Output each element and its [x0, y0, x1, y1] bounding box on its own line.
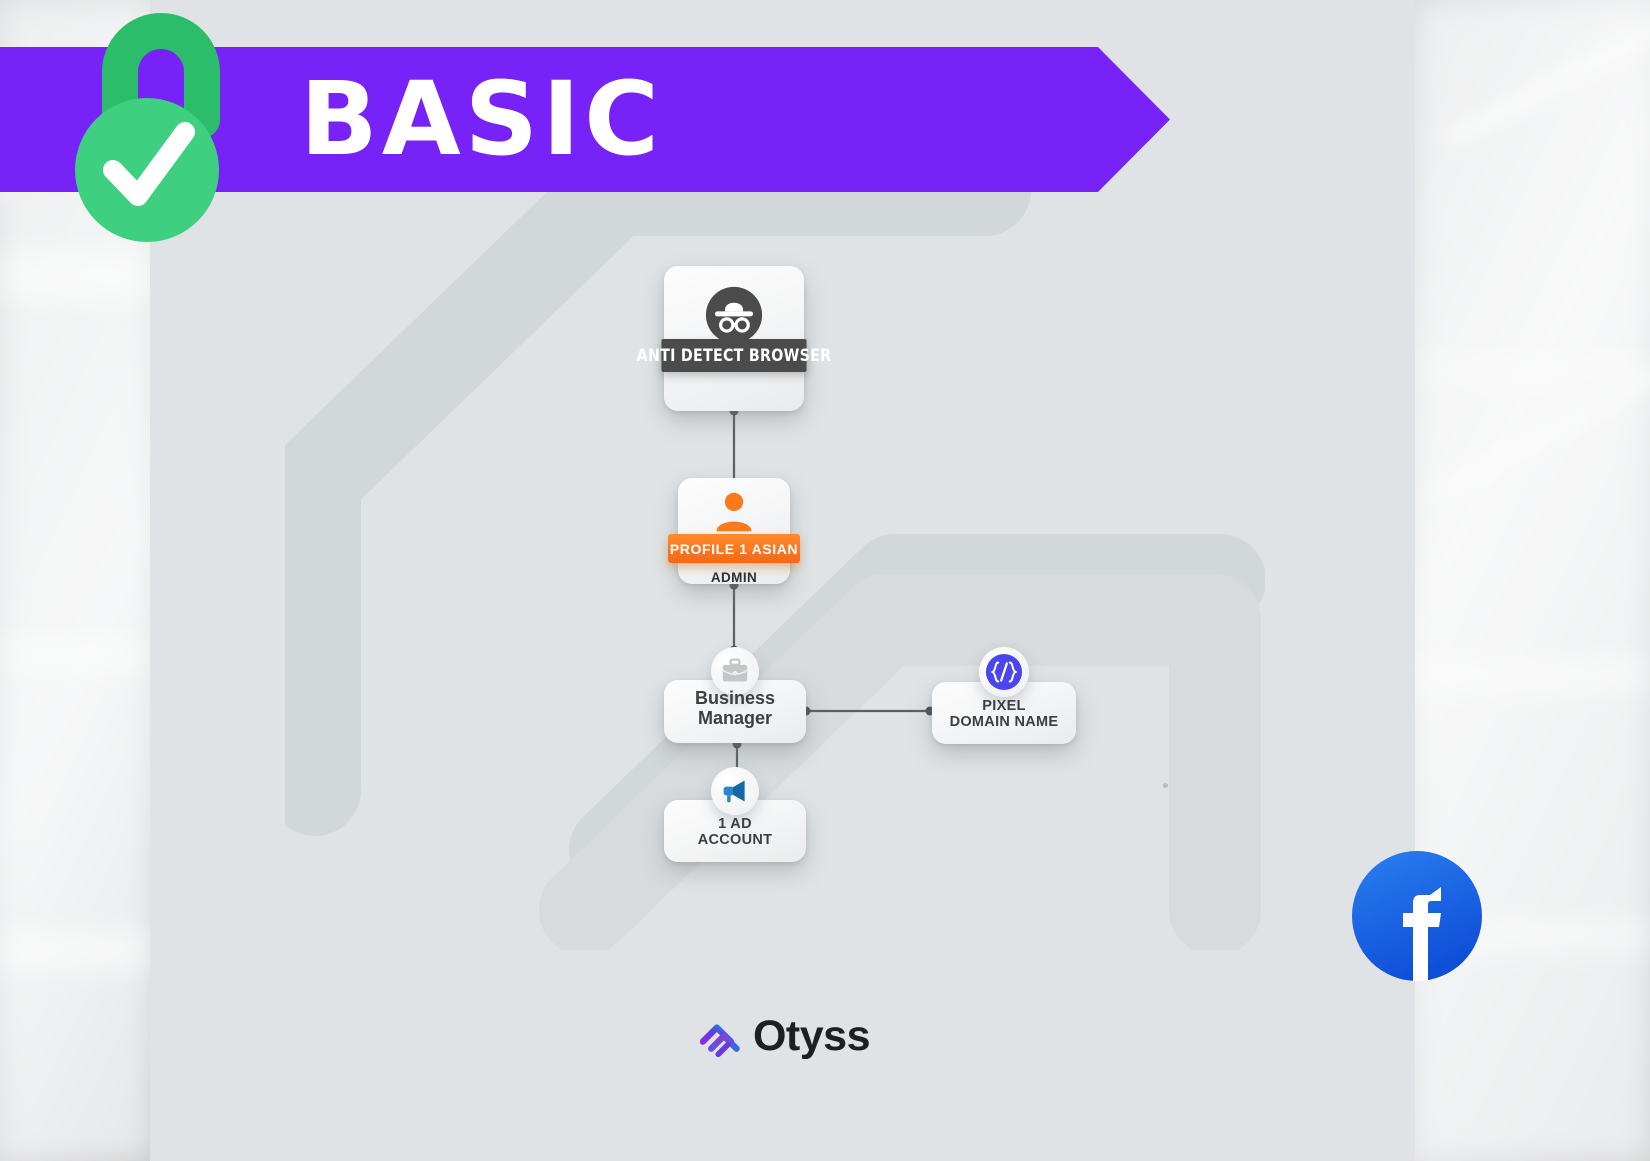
- page-title: BASIC: [300, 47, 1140, 192]
- ad-line2: ACCOUNT: [698, 832, 773, 848]
- otyss-chevron-logo-icon: [700, 1008, 745, 1064]
- stray-dot-marker: [1163, 783, 1168, 788]
- incognito-spy-icon: [705, 286, 763, 344]
- briefcase-icon: [721, 657, 749, 685]
- pixel-line2: DOMAIN NAME: [950, 714, 1059, 730]
- padlock-check-badge: [75, 10, 295, 245]
- profile-label: PROFILE 1 ASIAN: [668, 534, 800, 563]
- ad-account-label: 1 AD ACCOUNT: [664, 816, 806, 848]
- bm-line2: Manager: [698, 708, 772, 728]
- node-business-manager[interactable]: Business Manager: [664, 680, 806, 743]
- code-brackets-icon: [985, 653, 1023, 691]
- brand-logo: Otyss: [700, 1008, 870, 1064]
- user-person-icon: [712, 490, 756, 534]
- node-anti-detect-browser[interactable]: ANTI DETECT BROWSER: [664, 266, 804, 411]
- node-pixel-domain-name[interactable]: PIXEL DOMAIN NAME: [932, 682, 1076, 744]
- megaphone-icon: [721, 777, 749, 805]
- pixel-line1: PIXEL: [982, 698, 1025, 714]
- profile-role-label: ADMIN: [678, 570, 790, 585]
- node-ad-account[interactable]: 1 AD ACCOUNT: [664, 800, 806, 862]
- bm-line1: Business: [695, 688, 775, 708]
- ad-line1: 1 AD: [718, 816, 752, 832]
- ad-account-icon-badge: [711, 767, 759, 815]
- business-manager-label: Business Manager: [664, 688, 806, 728]
- facebook-badge[interactable]: [1352, 851, 1482, 981]
- facebook-icon: [1352, 851, 1482, 981]
- brand-name: Otyss: [753, 1012, 870, 1061]
- infographic-canvas: BASIC: [0, 0, 1650, 1161]
- pixel-icon-badge: [979, 647, 1029, 697]
- anti-detect-browser-label: ANTI DETECT BROWSER: [661, 339, 806, 372]
- node-profile[interactable]: PROFILE 1 ASIAN ADMIN: [678, 478, 790, 584]
- content-panel-footer: [150, 1105, 1415, 1161]
- pixel-domain-label: PIXEL DOMAIN NAME: [932, 698, 1076, 730]
